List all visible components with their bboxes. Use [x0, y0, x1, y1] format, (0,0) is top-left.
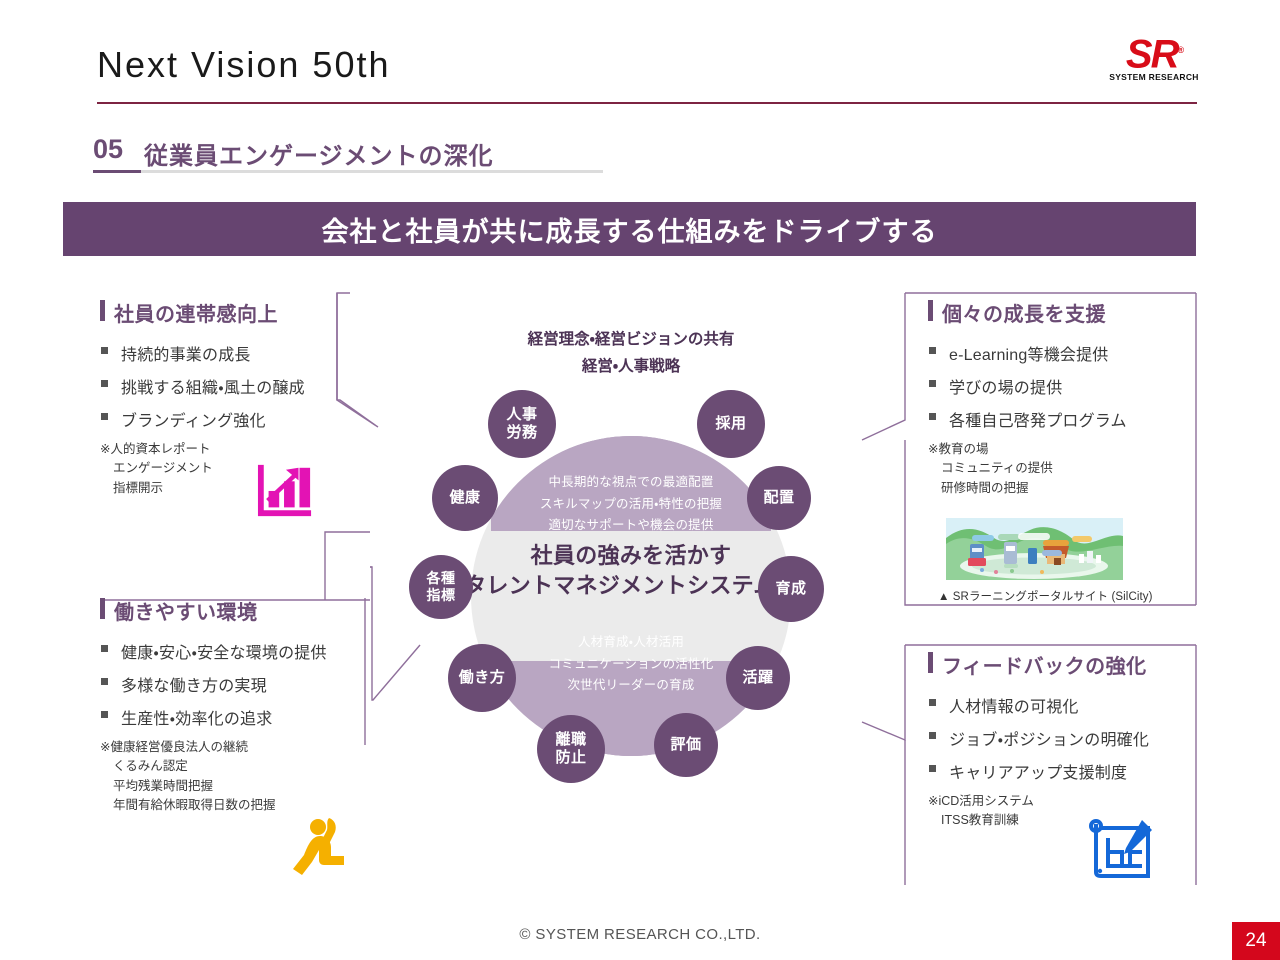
panel-note-head: ※教育の場: [928, 442, 988, 456]
panel-note-head: ※人的資本レポート: [100, 442, 210, 456]
panel-feedback-strengthening: フィードバックの強化 人材情報の可視化 ジョブ・ポジションの明確化 キャリアアッ…: [928, 650, 1193, 831]
silcity-learning-portal-thumbnail[interactable]: [946, 518, 1123, 580]
header-divider: [97, 102, 1197, 104]
logo-mark: SR®: [1106, 30, 1202, 74]
diagram-node-saiyou[interactable]: 採用: [697, 390, 765, 458]
panel-title: 個々の成長を支援: [928, 298, 1193, 327]
list-item: e-Learning等機会提供: [928, 341, 1193, 365]
diagram-node-katsuyaku[interactable]: 活躍: [726, 646, 790, 710]
panel-individual-growth-support: 個々の成長を支援 e-Learning等機会提供 学びの場の提供 各種自己啓発プ…: [928, 298, 1193, 498]
diagram-node-ikusei[interactable]: 育成: [758, 556, 824, 622]
panel-employee-solidarity: 社員の連帯感向上 持続的事業の成長 挑戦する組織・風土の醸成 ブランディング強化…: [100, 298, 355, 498]
node-label-line2: 労務: [506, 424, 537, 442]
panel-bullet-list: 健康・安心・安全な環境の提供 多様な働き方の実現 生産性・効率化の追求: [100, 639, 365, 729]
node-label-line2: 防止: [555, 749, 586, 767]
node-label-line1: 人事: [506, 406, 537, 424]
silcity-thumbnail-caption: ▲ SRラーニングポータルサイト (SilCity): [938, 588, 1153, 604]
diagram-node-kakushu-shihyou[interactable]: 各種 指標: [409, 555, 473, 619]
list-item: 各種自己啓発プログラム: [928, 407, 1193, 431]
panel-note-head: ※iCD活用システム: [928, 794, 1034, 808]
panel-note-line: 指標開示: [100, 479, 355, 498]
node-label-line1: 各種: [427, 570, 456, 587]
slide-root: Next Vision 50th SR® SYSTEM RESEARCH 05 …: [0, 0, 1280, 960]
panel-comfortable-workplace: 働きやすい環境 健康・安心・安全な環境の提供 多様な働き方の実現 生産性・効率化…: [100, 596, 365, 816]
list-item: ブランディング強化: [100, 407, 355, 431]
logo-mark-text: SR: [1126, 32, 1178, 76]
node-label-line1: 健康: [449, 489, 480, 507]
section-underline: [93, 170, 603, 173]
page-number-badge: 24: [1232, 922, 1280, 960]
list-item: 健康・安心・安全な環境の提供: [100, 639, 365, 663]
footer-copyright: © SYSTEM RESEARCH CO.,LTD.: [0, 926, 1280, 943]
panel-note: ※教育の場 コミュニティの提供 研修時間の把握: [928, 440, 1193, 498]
blueprint-pencil-icon: [1086, 816, 1156, 882]
list-item: キャリアアップ支援制度: [928, 759, 1193, 783]
node-label-line1: 育成: [775, 580, 806, 598]
panel-bullet-list: e-Learning等機会提供 学びの場の提供 各種自己啓発プログラム: [928, 341, 1193, 431]
panel-bullet-list: 人材情報の可視化 ジョブ・ポジションの明確化 キャリアアップ支援制度: [928, 693, 1193, 783]
deck-title: Next Vision 50th: [97, 44, 391, 86]
list-item: 多様な働き方の実現: [100, 672, 365, 696]
node-label-line2: 指標: [427, 587, 456, 604]
section-underline-accent: [93, 170, 141, 173]
list-item: 挑戦する組織・風土の醸成: [100, 374, 355, 398]
list-item: ジョブ・ポジションの明確化: [928, 726, 1193, 750]
node-label-line1: 配置: [763, 489, 794, 507]
headline-banner: 会社と社員が共に成長する仕組みをドライブする: [63, 202, 1196, 256]
list-item: 持続的事業の成長: [100, 341, 355, 365]
logo-subtitle: SYSTEM RESEARCH: [1106, 72, 1202, 82]
bar-chart-growth-icon: [256, 462, 314, 518]
headline-banner-text: 会社と社員が共に成長する仕組みをドライブする: [322, 210, 938, 249]
list-item: 人材情報の可視化: [928, 693, 1193, 717]
diagram-node-rishoku-boushi[interactable]: 離職 防止: [537, 715, 605, 783]
section-title: 従業員エンゲージメントの深化: [144, 136, 494, 171]
registered-trademark-icon: ®: [1177, 45, 1182, 55]
section-number: 05: [93, 134, 123, 165]
panel-note: ※人的資本レポート エンゲージメント 指標開示: [100, 440, 355, 498]
panel-title: フィードバックの強化: [928, 650, 1193, 679]
list-item: 生産性・効率化の追求: [100, 705, 365, 729]
diagram-node-jinji-roumu[interactable]: 人事 労務: [488, 390, 556, 458]
panel-bullet-list: 持続的事業の成長 挑戦する組織・風土の醸成 ブランディング強化: [100, 341, 355, 431]
diagram-node-hatarakikata[interactable]: 働き方: [448, 644, 516, 712]
panel-title: 社員の連帯感向上: [100, 298, 355, 327]
node-label-line1: 評価: [670, 736, 701, 754]
panel-note-line: 平均残業時間把握: [100, 777, 365, 796]
panel-note: ※健康経営優良法人の継続 くるみん認定 平均残業時間把握 年間有給休暇取得日数の…: [100, 738, 365, 816]
node-label-line1: 活躍: [742, 669, 773, 687]
panel-note-line: エンゲージメント: [100, 459, 355, 478]
diagram-node-hyouka[interactable]: 評価: [654, 713, 718, 777]
node-label-line1: 働き方: [459, 669, 506, 687]
node-label-line1: 採用: [715, 415, 746, 433]
list-item: 学びの場の提供: [928, 374, 1193, 398]
panel-title: 働きやすい環境: [100, 596, 365, 625]
system-research-logo: SR® SYSTEM RESEARCH: [1106, 30, 1202, 90]
talent-management-diagram: 経営理念・経営ビジョンの共有 経営・人事戦略 中長期的な視点での最適配置 ス: [396, 326, 866, 796]
panel-note-head: ※健康経営優良法人の継続: [100, 740, 248, 754]
node-label-line1: 離職: [555, 731, 586, 749]
panel-note-line: コミュニティの提供: [928, 459, 1193, 478]
diagram-node-kenkou[interactable]: 健康: [432, 465, 498, 531]
panel-note-line: くるみん認定: [100, 757, 365, 776]
stretching-person-icon: [288, 812, 360, 884]
panel-note-line: 研修時間の把握: [928, 479, 1193, 498]
diagram-node-haichi[interactable]: 配置: [747, 466, 811, 530]
